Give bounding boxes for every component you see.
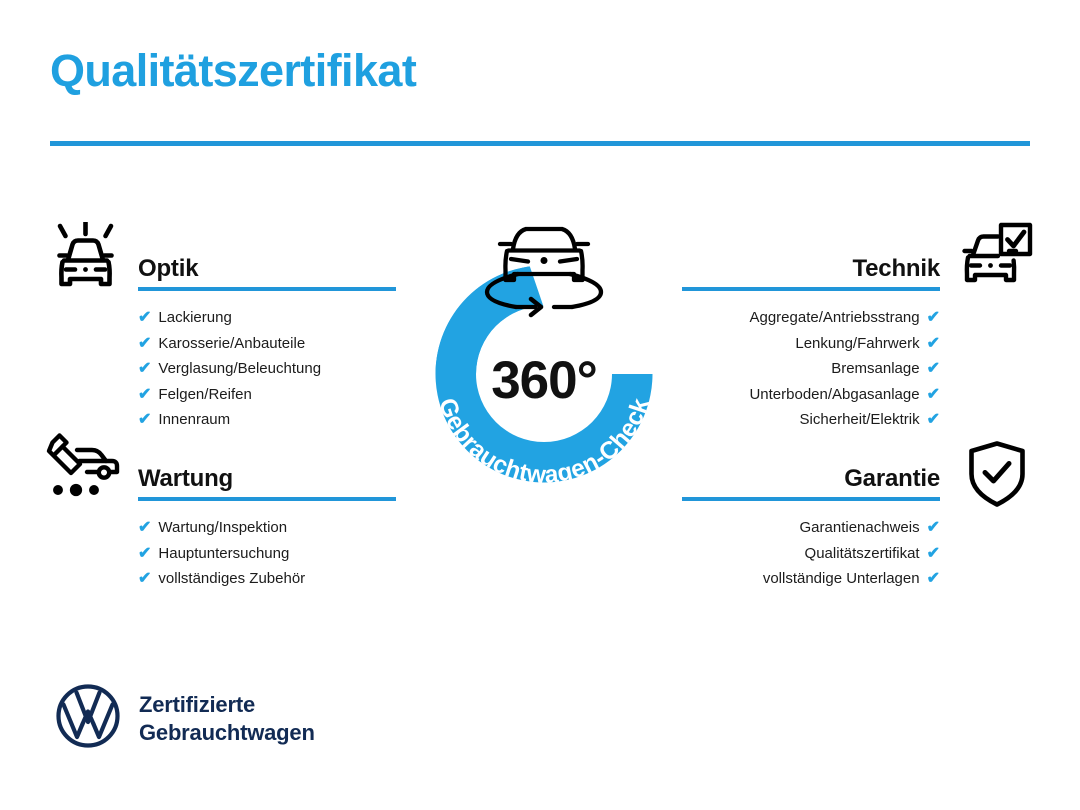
checklist-optik: ✔ Lackierung ✔ Karosserie/Anbauteile ✔ V…: [138, 309, 396, 428]
footer-brand-text: Zertifizierte Gebrauchtwagen: [139, 691, 315, 747]
check-icon: ✔: [927, 336, 940, 352]
shield-check-icon: [966, 440, 1028, 513]
list-item: ✔ Lackierung: [138, 309, 396, 326]
list-item: Garantienachweis ✔: [682, 519, 940, 536]
list-item-label: Aggregate/Antriebsstrang: [749, 309, 919, 326]
list-item-label: Wartung/Inspektion: [158, 519, 287, 536]
list-item: Aggregate/Antriebsstrang ✔: [682, 309, 940, 326]
footer-line-1: Zertifizierte: [139, 691, 315, 719]
check-icon: ✔: [138, 361, 151, 377]
check-icon: ✔: [138, 336, 151, 352]
list-item-label: Innenraum: [158, 411, 230, 428]
list-item-label: Verglasung/Beleuchtung: [158, 360, 321, 377]
360-degree-check-badge: Gebrauchtwagen-Check 360°: [408, 212, 680, 508]
car-shine-icon: [48, 222, 124, 297]
list-item-label: Sicherheit/Elektrik: [800, 411, 920, 428]
list-item: ✔ Felgen/Reifen: [138, 386, 396, 403]
section-title-wartung: Wartung: [138, 465, 233, 493]
check-icon: ✔: [138, 412, 151, 428]
list-item: Bremsanlage ✔: [682, 360, 940, 377]
section-title-optik: Optik: [138, 255, 198, 283]
section-technik: Technik Aggregate/Antriebsstrang ✔ Lenku…: [682, 245, 940, 437]
section-underline-garantie: [682, 497, 940, 501]
list-item: Qualitätszertifikat ✔: [682, 545, 940, 562]
check-icon: ✔: [927, 361, 940, 377]
list-item: Unterboden/Abgasanlage ✔: [682, 386, 940, 403]
checklist-wartung: ✔ Wartung/Inspektion ✔ Hauptuntersuchung…: [138, 519, 396, 587]
list-item-label: Garantienachweis: [800, 519, 920, 536]
check-icon: ✔: [138, 571, 151, 587]
check-icon: ✔: [927, 546, 940, 562]
section-header-garantie: Garantie: [682, 455, 940, 501]
list-item-label: Bremsanlage: [831, 360, 919, 377]
check-icon: ✔: [927, 310, 940, 326]
section-garantie: Garantie Garantienachweis ✔ Qualitätszer…: [682, 455, 940, 596]
list-item-label: Hauptuntersuchung: [158, 545, 289, 562]
section-underline-optik: [138, 287, 396, 291]
list-item: ✔ Verglasung/Beleuchtung: [138, 360, 396, 377]
list-item-label: Karosserie/Anbauteile: [158, 335, 305, 352]
section-underline-technik: [682, 287, 940, 291]
section-wartung: Wartung ✔ Wartung/Inspektion ✔ Hauptunte…: [138, 455, 396, 596]
page-title: Qualitätszertifikat: [50, 48, 416, 93]
checklist-garantie: Garantienachweis ✔ Qualitätszertifikat ✔…: [682, 519, 940, 587]
list-item: ✔ Wartung/Inspektion: [138, 519, 396, 536]
list-item: vollständige Unterlagen ✔: [682, 570, 940, 587]
footer-line-2: Gebrauchtwagen: [139, 719, 315, 747]
check-icon: ✔: [927, 571, 940, 587]
section-header-technik: Technik: [682, 245, 940, 291]
list-item: ✔ Hauptuntersuchung: [138, 545, 396, 562]
check-icon: ✔: [138, 387, 151, 403]
check-icon: ✔: [138, 310, 151, 326]
car-checkbox-icon: [960, 222, 1034, 297]
list-item-label: Lackierung: [158, 309, 231, 326]
list-item-label: Unterboden/Abgasanlage: [749, 386, 919, 403]
check-icon: ✔: [927, 412, 940, 428]
section-optik: Optik ✔ Lackierung ✔ Karosserie/Anbautei…: [138, 245, 396, 437]
check-icon: ✔: [927, 520, 940, 536]
list-item-label: Lenkung/Fahrwerk: [795, 335, 919, 352]
list-item: ✔ Innenraum: [138, 411, 396, 428]
section-title-garantie: Garantie: [844, 465, 940, 493]
list-item-label: vollständiges Zubehör: [158, 570, 305, 587]
section-underline-wartung: [138, 497, 396, 501]
badge-value: 360°: [491, 351, 597, 410]
section-title-technik: Technik: [852, 255, 940, 283]
check-icon: ✔: [138, 520, 151, 536]
section-header-optik: Optik: [138, 245, 396, 291]
header-divider: [50, 141, 1030, 146]
check-icon: ✔: [138, 546, 151, 562]
section-header-wartung: Wartung: [138, 455, 396, 501]
car-service-tool-icon: [46, 432, 126, 503]
checklist-technik: Aggregate/Antriebsstrang ✔ Lenkung/Fahrw…: [682, 309, 940, 428]
list-item: Lenkung/Fahrwerk ✔: [682, 335, 940, 352]
list-item-label: Qualitätszertifikat: [805, 545, 920, 562]
list-item-label: vollständige Unterlagen: [763, 570, 920, 587]
check-icon: ✔: [927, 387, 940, 403]
list-item: ✔ vollständiges Zubehör: [138, 570, 396, 587]
footer-brand: Zertifizierte Gebrauchtwagen: [55, 683, 315, 754]
list-item-label: Felgen/Reifen: [158, 386, 251, 403]
list-item: Sicherheit/Elektrik ✔: [682, 411, 940, 428]
list-item: ✔ Karosserie/Anbauteile: [138, 335, 396, 352]
vw-logo: [55, 683, 121, 754]
